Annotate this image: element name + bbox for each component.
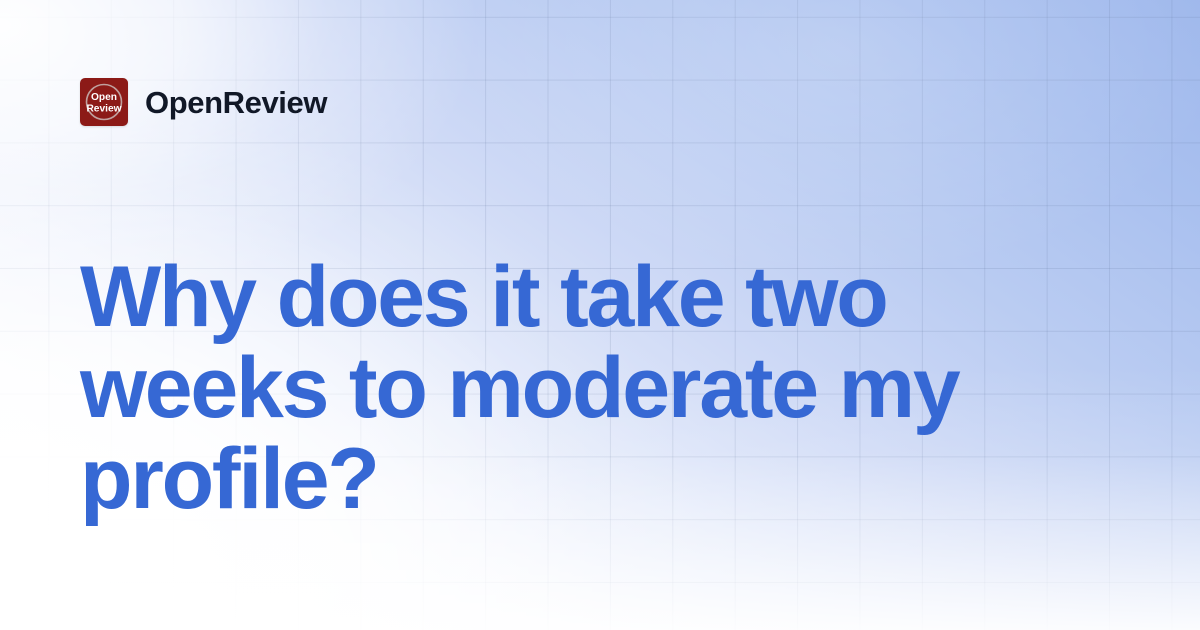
brand-lockup: Open Review OpenReview <box>80 78 327 126</box>
brand-name: OpenReview <box>145 87 327 118</box>
social-card: Open Review OpenReview Why does it take … <box>0 0 1200 630</box>
card-content: Open Review OpenReview Why does it take … <box>0 0 1200 630</box>
page-title: Why does it take two weeks to moderate m… <box>80 252 1110 525</box>
svg-text:Review: Review <box>86 103 121 114</box>
openreview-logo-icon: Open Review <box>80 78 128 126</box>
svg-text:Open: Open <box>91 92 117 103</box>
